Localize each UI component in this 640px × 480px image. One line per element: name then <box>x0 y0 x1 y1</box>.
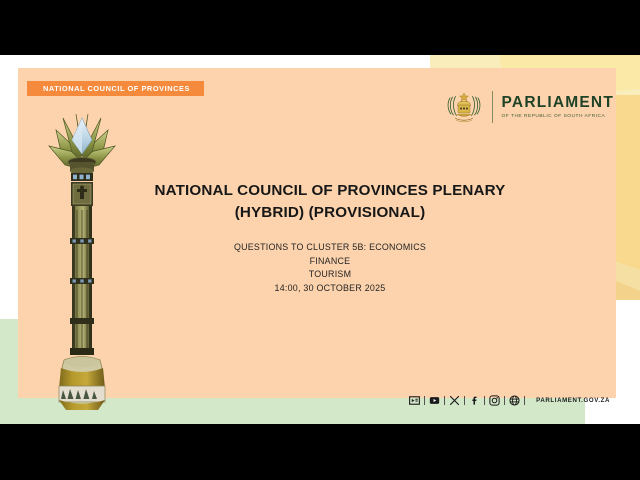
x-twitter-icon[interactable] <box>449 395 460 406</box>
facebook-icon[interactable] <box>469 395 480 406</box>
social-separator <box>524 396 525 405</box>
slide-title-line-2: (HYBRID) (PROVISIONAL) <box>120 202 540 224</box>
website-url[interactable]: PARLIAMENT.GOV.ZA <box>536 397 610 404</box>
title-block: NATIONAL COUNCIL OF PROVINCES PLENARY (H… <box>120 180 540 295</box>
social-separator <box>444 396 445 405</box>
ncop-ceremonial-mace <box>36 110 128 410</box>
subtitle-line-datetime: 14:00, 30 OCTOBER 2025 <box>120 282 540 296</box>
social-separator <box>424 396 425 405</box>
south-africa-coat-of-arms-icon <box>445 90 483 124</box>
letterbox-bottom <box>0 424 640 480</box>
social-separator <box>484 396 485 405</box>
logo-divider <box>492 91 493 123</box>
subtitle-block: QUESTIONS TO CLUSTER 5B: ECONOMICS FINAN… <box>120 241 540 295</box>
slide-title-line-1: NATIONAL COUNCIL OF PROVINCES PLENARY <box>120 180 540 202</box>
brand-text: PARLIAMENT OF THE REPUBLIC OF SOUTH AFRI… <box>502 95 614 118</box>
globe-web-icon[interactable] <box>509 395 520 406</box>
social-separator <box>464 396 465 405</box>
social-separator <box>504 396 505 405</box>
parliament-tv-icon[interactable] <box>409 395 420 406</box>
subtitle-line-cluster: QUESTIONS TO CLUSTER 5B: ECONOMICS <box>120 241 540 255</box>
broadcast-slide: NATIONAL COUNCIL OF PROVINCES <box>0 55 640 424</box>
video-stage: NATIONAL COUNCIL OF PROVINCES <box>0 0 640 480</box>
parliament-logo-lockup: PARLIAMENT OF THE REPUBLIC OF SOUTH AFRI… <box>445 90 614 124</box>
subtitle-line-tourism: TOURISM <box>120 268 540 282</box>
subtitle-line-finance: FINANCE <box>120 255 540 269</box>
brand-title: PARLIAMENT <box>502 95 614 111</box>
slide-title: NATIONAL COUNCIL OF PROVINCES PLENARY (H… <box>120 180 540 223</box>
letterbox-top <box>0 0 640 55</box>
social-media-bar: PARLIAMENT.GOV.ZA <box>409 395 610 406</box>
chamber-badge: NATIONAL COUNCIL OF PROVINCES <box>27 81 204 96</box>
instagram-icon[interactable] <box>489 395 500 406</box>
youtube-icon[interactable] <box>429 395 440 406</box>
brand-subtitle: OF THE REPUBLIC OF SOUTH AFRICA <box>502 114 614 119</box>
